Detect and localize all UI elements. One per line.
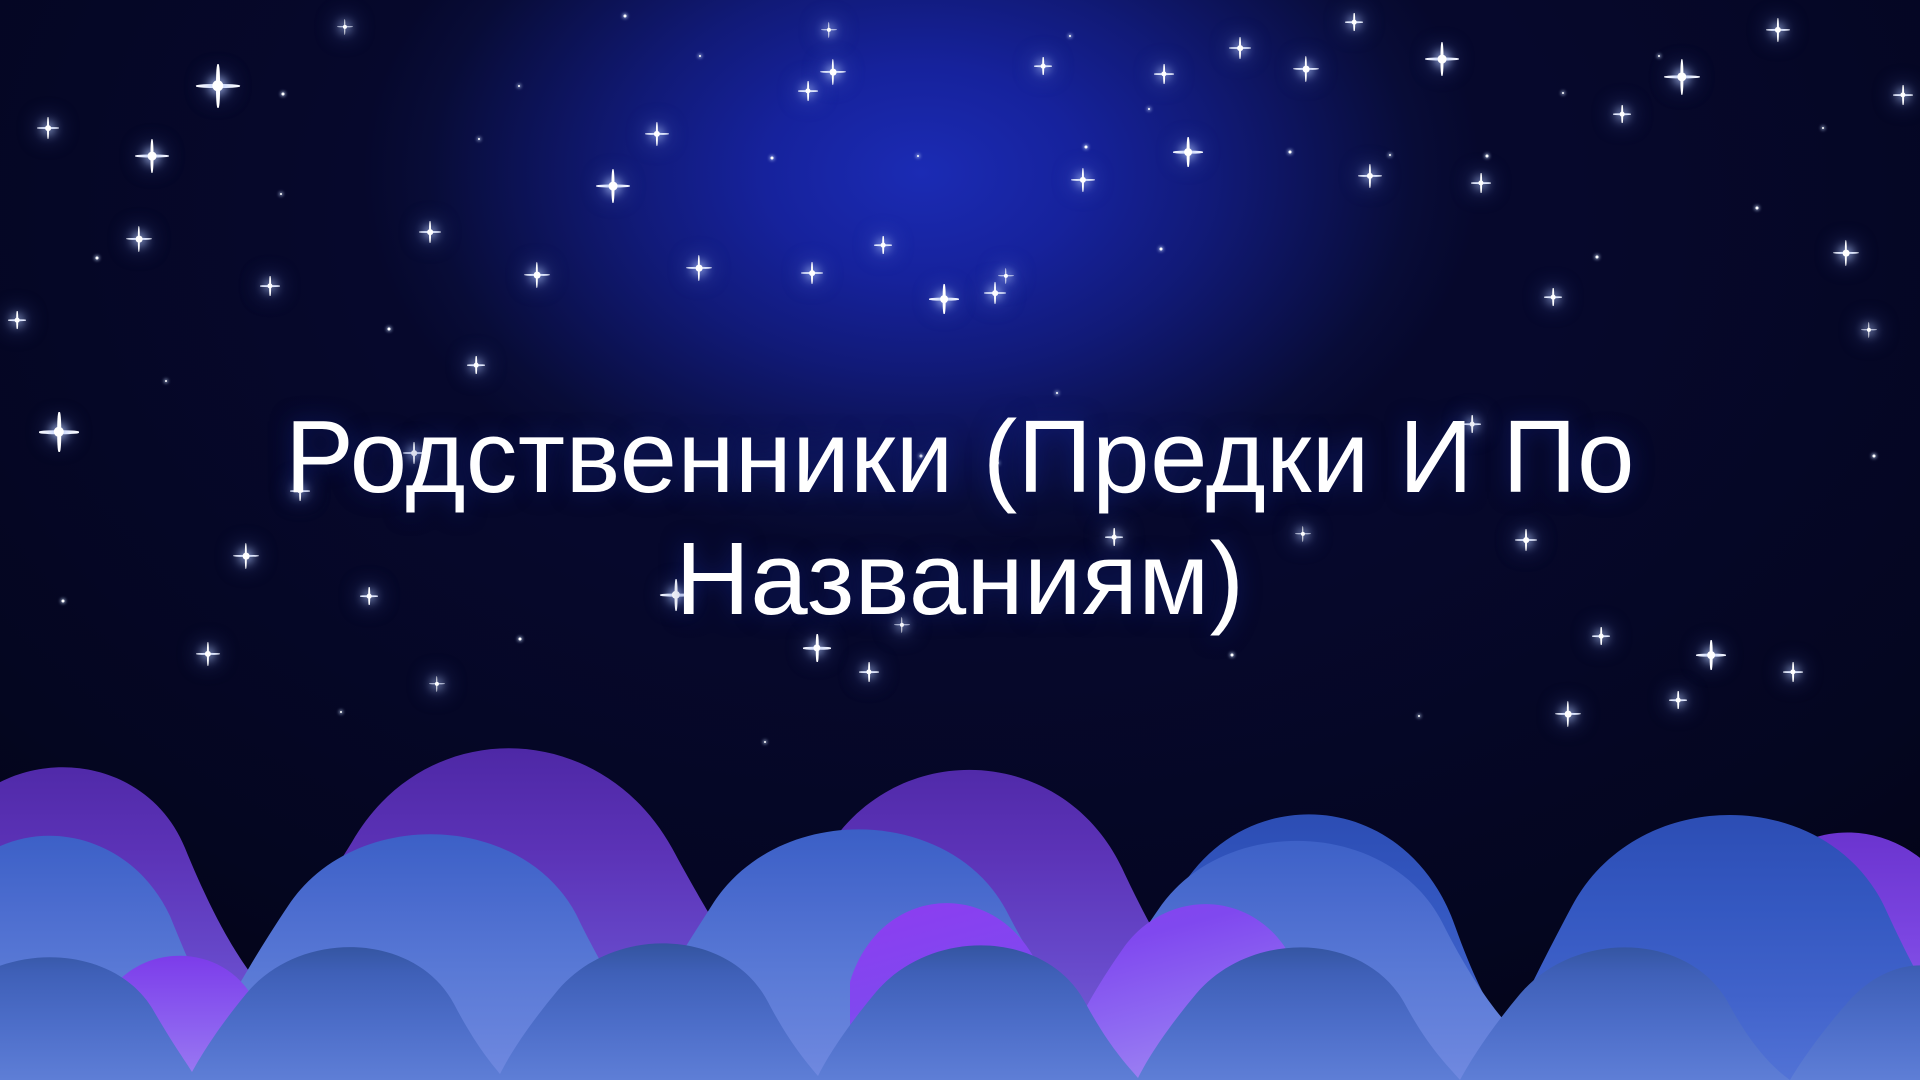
star-dot — [165, 380, 167, 382]
star-core — [136, 236, 143, 243]
star-sparkle-icon — [126, 226, 152, 252]
star-core — [1237, 45, 1243, 51]
star-sparkle-icon — [929, 284, 959, 314]
star-core — [992, 290, 998, 296]
star-dot — [1160, 248, 1163, 251]
star-sparkle-icon — [37, 117, 59, 139]
star-sparkle-icon — [467, 356, 485, 374]
star-core — [1352, 20, 1357, 25]
star-dot — [1148, 108, 1150, 110]
star-core — [1900, 92, 1905, 97]
star-dot — [1069, 35, 1071, 37]
star-dot — [1562, 92, 1564, 94]
star-dot — [771, 157, 774, 160]
star-dot — [1289, 151, 1292, 154]
cloud-bank — [0, 610, 1920, 1080]
star-dot — [96, 257, 99, 260]
star-core — [1041, 64, 1046, 69]
star-dot — [388, 328, 391, 331]
star-dot — [1486, 155, 1489, 158]
star-core — [1775, 27, 1781, 33]
star-core — [148, 152, 157, 161]
star-sparkle-icon — [686, 255, 712, 281]
star-core — [15, 318, 20, 323]
star-sparkle-icon — [1664, 59, 1700, 95]
star-sparkle-icon — [821, 22, 837, 38]
star-sparkle-icon — [645, 122, 669, 146]
star-dot — [699, 55, 701, 57]
star-sparkle-icon — [1071, 168, 1095, 192]
title-slide: Родственники (Предки И По Названиям) — [0, 0, 1920, 1080]
star-sparkle-icon — [524, 262, 550, 288]
star-core — [1843, 250, 1850, 257]
star-core — [809, 270, 815, 276]
star-core — [1677, 72, 1686, 81]
star-sparkle-icon — [1833, 240, 1859, 266]
star-sparkle-icon — [801, 262, 823, 284]
star-sparkle-icon — [1893, 85, 1913, 105]
star-dot — [478, 138, 480, 140]
star-sparkle-icon — [1173, 137, 1203, 167]
star-sparkle-icon — [1345, 13, 1363, 31]
star-core — [940, 295, 948, 303]
star-core — [534, 272, 541, 279]
star-sparkle-icon — [596, 169, 630, 203]
star-dot — [1822, 127, 1824, 129]
star-core — [1184, 148, 1192, 156]
star-core — [654, 131, 660, 137]
star-sparkle-icon — [874, 236, 892, 254]
star-dot — [282, 93, 285, 96]
star-sparkle-icon — [1544, 288, 1562, 306]
star-dot — [1056, 392, 1058, 394]
star-core — [212, 80, 223, 91]
star-core — [1551, 295, 1556, 300]
star-core — [805, 88, 810, 93]
star-sparkle-icon — [998, 268, 1014, 284]
star-sparkle-icon — [1034, 57, 1052, 75]
star-sparkle-icon — [419, 221, 441, 243]
star-dot — [1596, 256, 1599, 259]
star-dot — [518, 85, 520, 87]
star-sparkle-icon — [1229, 37, 1251, 59]
star-core — [45, 125, 51, 131]
star-core — [343, 25, 347, 29]
star-core — [474, 363, 479, 368]
star-sparkle-icon — [1293, 56, 1319, 82]
star-core — [881, 243, 886, 248]
star-sparkle-icon — [820, 59, 846, 85]
star-sparkle-icon — [135, 139, 169, 173]
star-sparkle-icon — [1425, 42, 1459, 76]
star-sparkle-icon — [260, 276, 280, 296]
star-dot — [624, 15, 627, 18]
star-sparkle-icon — [1613, 105, 1631, 123]
star-core — [1478, 180, 1483, 185]
star-core — [1004, 274, 1008, 278]
star-core — [427, 229, 433, 235]
star-core — [830, 69, 837, 76]
star-dot — [917, 155, 919, 157]
star-core — [1303, 66, 1310, 73]
star-sparkle-icon — [196, 64, 240, 108]
star-core — [827, 28, 831, 32]
star-core — [609, 182, 618, 191]
star-dot — [280, 193, 282, 195]
star-core — [1161, 71, 1166, 76]
star-core — [1620, 112, 1625, 117]
star-dot — [1658, 55, 1660, 57]
star-sparkle-icon — [984, 282, 1006, 304]
star-sparkle-icon — [798, 81, 818, 101]
title-block: Родственники (Предки И По Названиям) — [0, 396, 1920, 639]
star-core — [696, 265, 703, 272]
star-sparkle-icon — [1358, 164, 1382, 188]
star-dot — [1389, 154, 1391, 156]
star-dot — [1756, 207, 1759, 210]
star-sparkle-icon — [8, 311, 26, 329]
cloud-layer-front-blue — [0, 610, 1920, 1080]
star-sparkle-icon — [1471, 173, 1491, 193]
star-core — [1867, 328, 1871, 332]
star-dot — [1085, 146, 1088, 149]
star-core — [1438, 55, 1447, 64]
slide-title: Родственники (Предки И По Названиям) — [0, 396, 1920, 639]
star-sparkle-icon — [337, 19, 353, 35]
star-core — [1080, 177, 1086, 183]
star-sparkle-icon — [1154, 64, 1174, 84]
star-core — [267, 283, 272, 288]
star-sparkle-icon — [1861, 322, 1877, 338]
star-sparkle-icon — [1766, 18, 1790, 42]
star-core — [1367, 173, 1373, 179]
